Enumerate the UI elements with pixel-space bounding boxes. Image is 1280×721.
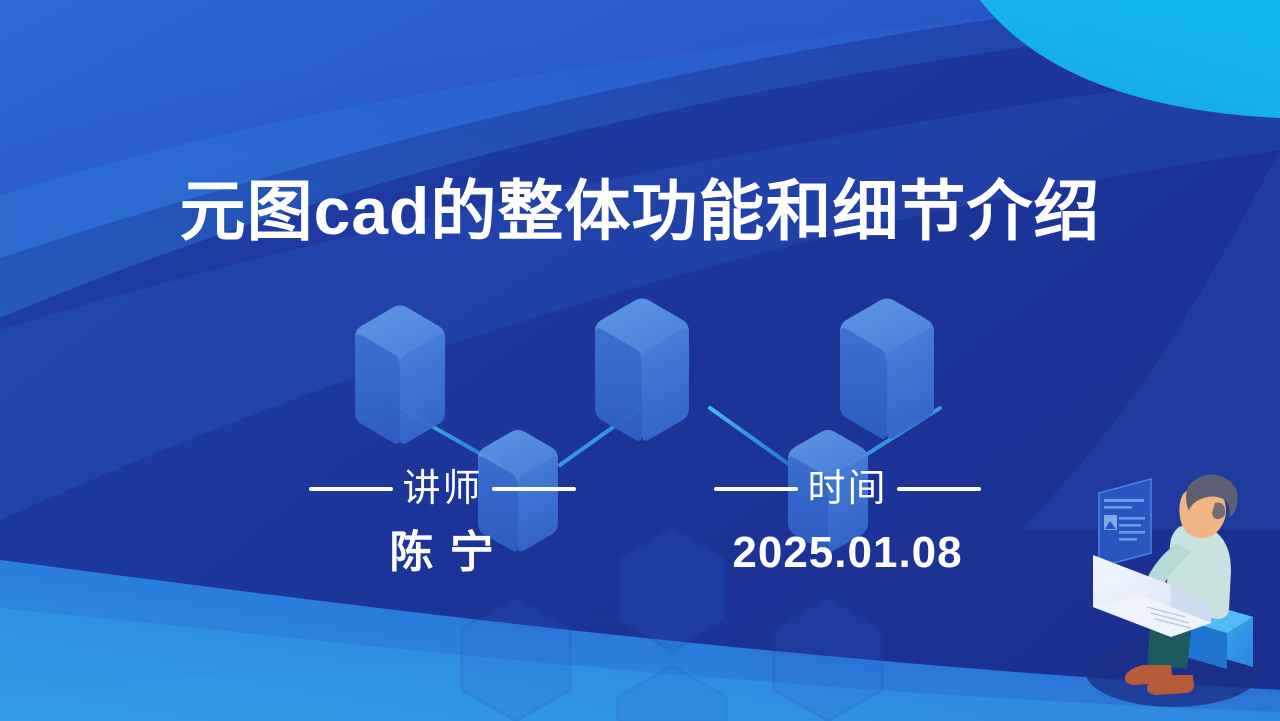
date-value: 2025.01.08 [675, 526, 1020, 580]
cube-large-right [840, 299, 934, 439]
rule-left-icon [714, 487, 798, 491]
cube-large-center [595, 299, 689, 441]
speaker-heading: 讲师 [270, 466, 615, 512]
speaker-label: 讲师 [402, 466, 482, 512]
person-with-laptop-illustration [1055, 455, 1280, 721]
slide-title: 元图cad的整体功能和细节介绍 [0, 168, 1280, 254]
rule-right-icon [492, 487, 576, 491]
floating-ui-panel [1099, 479, 1151, 567]
speaker-name: 陈 宁 [270, 526, 615, 580]
rule-right-icon [897, 487, 981, 491]
date-label: 时间 [807, 466, 887, 512]
slide-meta-row: 讲师 陈 宁 时间 2025.01.08 [270, 466, 1020, 606]
speaker-block: 讲师 陈 宁 [270, 466, 615, 580]
date-block: 时间 2025.01.08 [675, 466, 1020, 580]
date-heading: 时间 [675, 466, 1020, 512]
presentation-slide: 元图cad的整体功能和细节介绍 讲师 陈 宁 时间 2025.01.08 [0, 0, 1280, 721]
cube-large-left [355, 306, 445, 444]
rule-left-icon [309, 487, 393, 491]
head [1179, 474, 1237, 538]
